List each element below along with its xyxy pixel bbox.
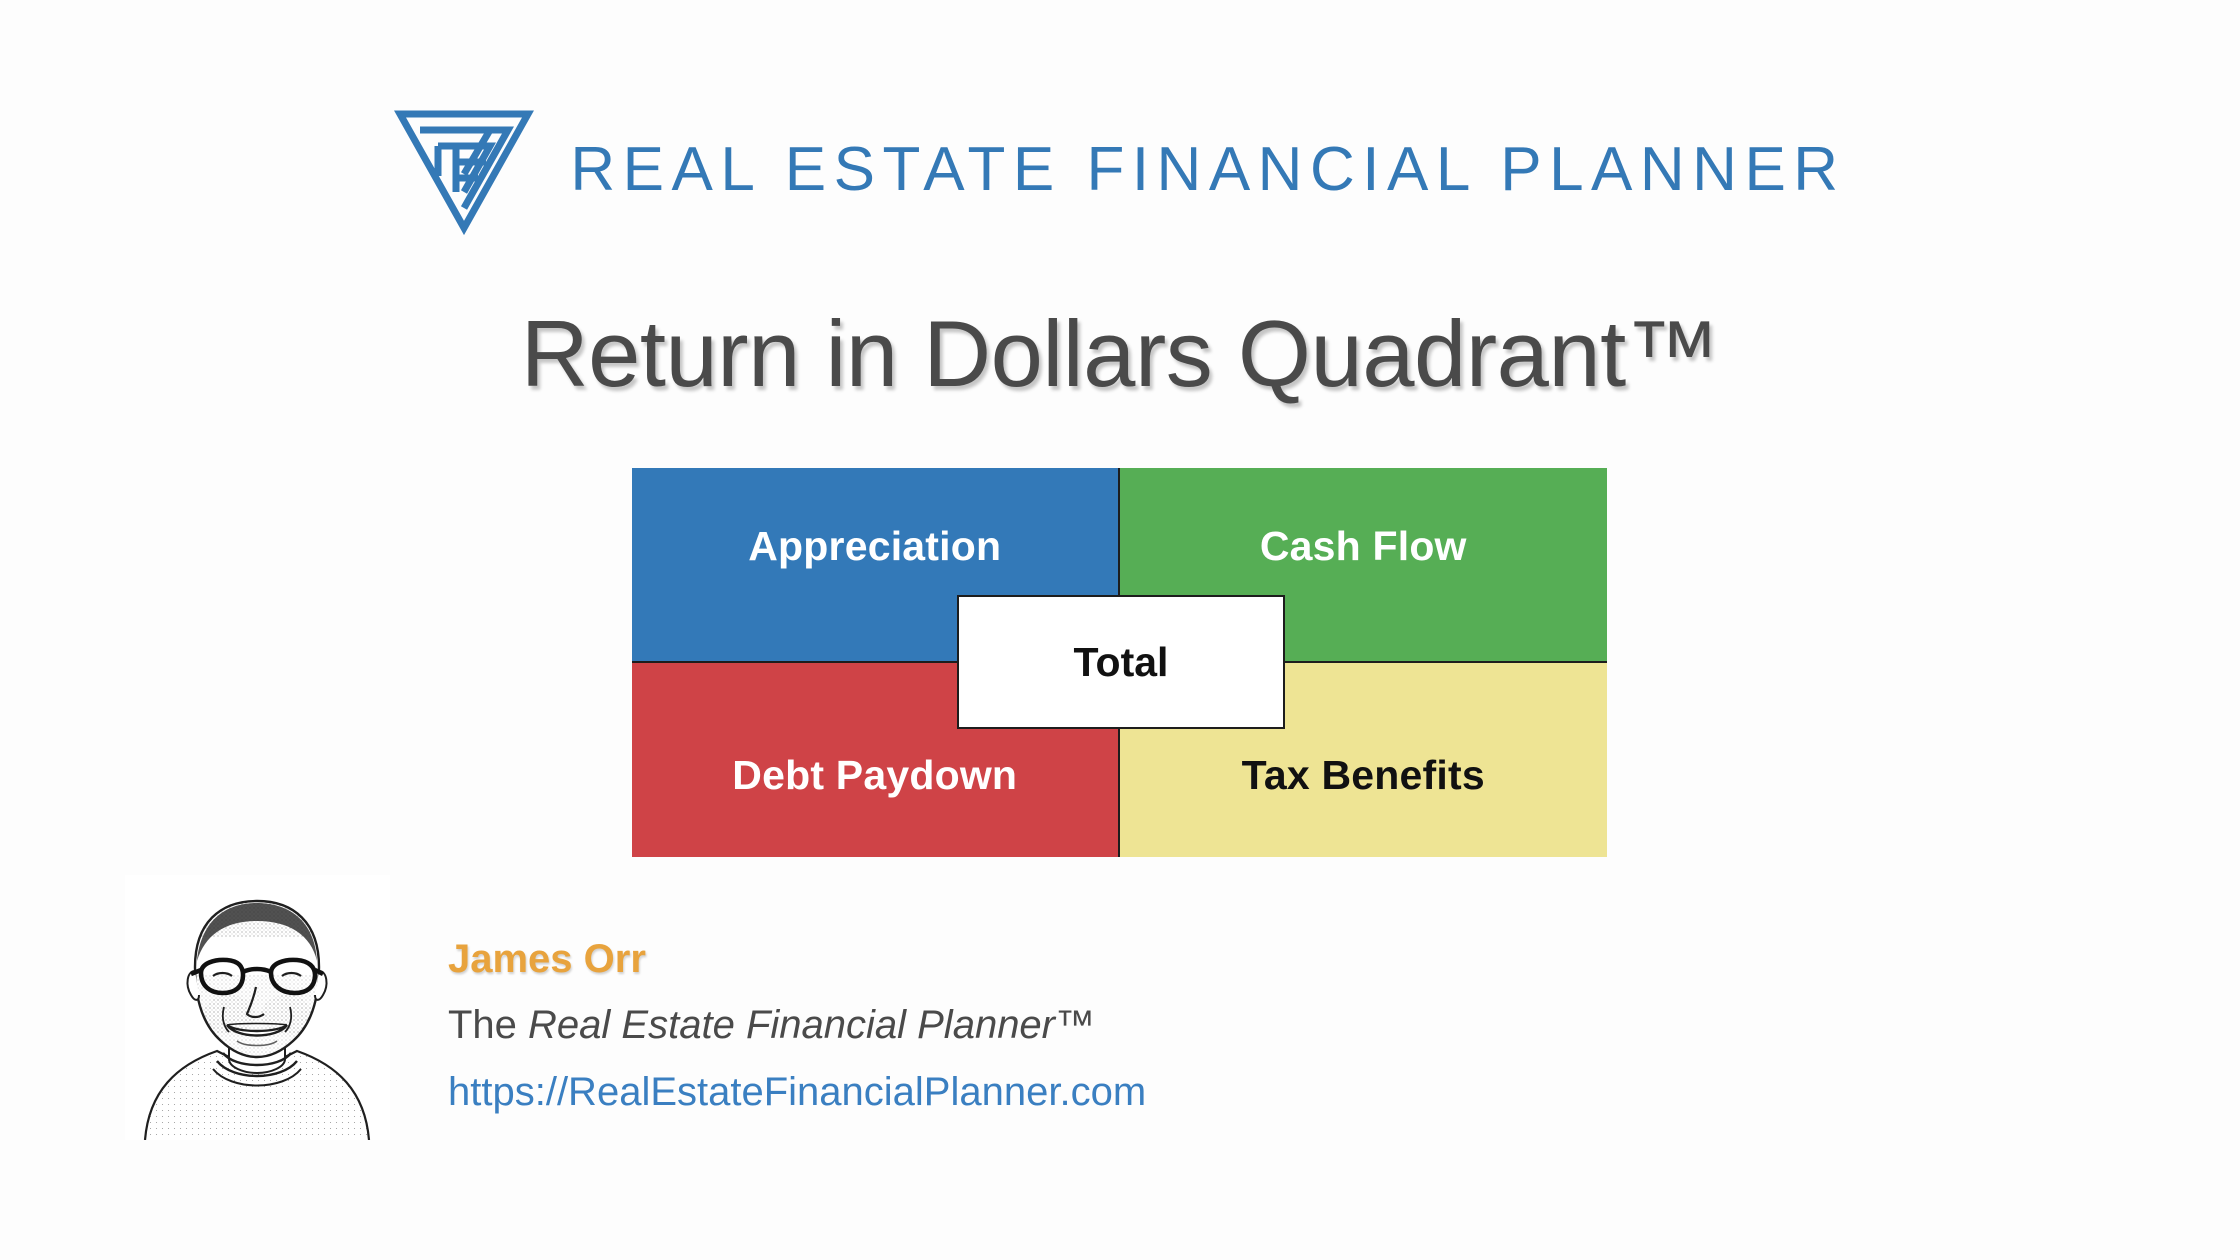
brand-wordmark: REAL ESTATE FINANCIAL PLANNER — [570, 139, 1845, 201]
author-website-link[interactable]: https://RealEstateFinancialPlanner.com — [448, 1063, 1146, 1122]
author-name: James Orr — [448, 930, 1648, 988]
quadrant-label-total: Total — [1074, 639, 1169, 686]
page-title: Return in Dollars Quadrant™ — [0, 300, 2240, 408]
quadrant-label-tax-benefits: Tax Benefits — [1242, 752, 1485, 799]
author-role-emphasis: Real Estate Financial Planner™ — [528, 1003, 1095, 1047]
author-role-prefix: The — [448, 1003, 528, 1047]
author-portrait-illustration — [125, 875, 390, 1140]
quadrant-label-debt-paydown: Debt Paydown — [732, 752, 1017, 799]
brand-header: REAL ESTATE FINANCIAL PLANNER — [0, 104, 2240, 236]
quadrant-center-total: Total — [957, 595, 1285, 729]
quadrant-label-cash-flow: Cash Flow — [1260, 523, 1467, 570]
triangle-maze-logo-icon — [394, 104, 534, 236]
quadrant-label-appreciation: Appreciation — [748, 523, 1001, 570]
author-role: The Real Estate Financial Planner™ — [448, 996, 1648, 1055]
author-info: James Orr The Real Estate Financial Plan… — [448, 930, 1648, 1122]
